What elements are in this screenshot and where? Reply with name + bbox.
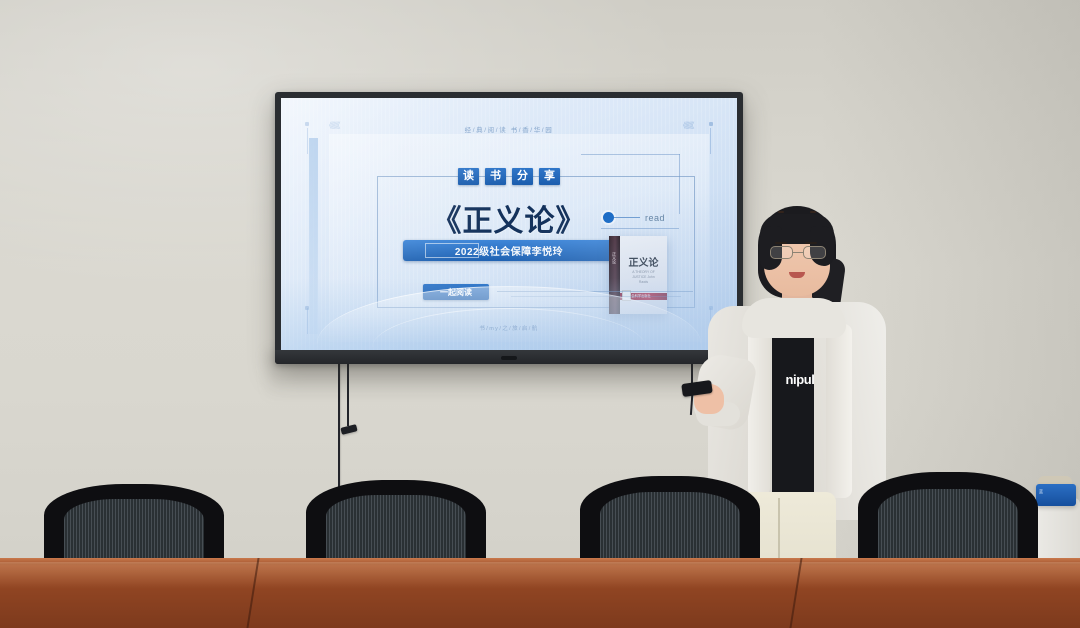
book-spine-text: 正义论: [612, 252, 617, 264]
hoodie-front-left-panel: [748, 326, 770, 496]
glasses-bridge: [793, 252, 803, 253]
slide-kicker-text: 经/典/阅/读 书/香/华/园: [281, 124, 737, 134]
read-underline: [601, 228, 679, 229]
table-surface-gloss: [0, 562, 1080, 588]
presentation-slide: 《《《《 《《《《 经/典/阅/读 书/香/华/园 读 书 分 享 《正义论》 …: [281, 98, 737, 350]
eyebrow-left: [775, 242, 787, 244]
hoodie-front-right-panel: [826, 324, 852, 498]
wall-mounted-display[interactable]: 《《《《 《《《《 经/典/阅/读 书/香/华/园 读 书 分 享 《正义论》 …: [275, 92, 743, 364]
slide-tag: 书: [485, 168, 506, 185]
read-connector-vertical: [679, 154, 680, 214]
glasses-lens-right: [803, 246, 826, 259]
read-marker: read: [603, 212, 665, 223]
read-line: [614, 217, 640, 218]
book-cover-title: 正义论: [620, 254, 667, 269]
slide-page-decoration: [281, 278, 737, 350]
read-dot-icon: [603, 212, 614, 223]
blue-box-label: 蓝: [1039, 489, 1043, 495]
meeting-room-scene: 《《《《 《《《《 经/典/阅/读 书/香/华/园 读 书 分 享 《正义论》 …: [0, 0, 1080, 628]
tshirt-graphic-text: nipul: [762, 372, 838, 387]
slide-subtitle-text: 2022级社会保障李悦玲: [455, 243, 563, 258]
tv-bottom-bezel: [275, 350, 743, 364]
read-connector-horizontal: [581, 154, 680, 155]
hoodie-hood: [742, 298, 846, 338]
slide-title: 《正义论》: [281, 196, 737, 240]
slide-tag: 分: [512, 168, 533, 185]
read-label: read: [645, 213, 665, 223]
slide-tag: 读: [458, 168, 479, 185]
conference-table: [0, 558, 1080, 628]
glasses-icon: [770, 246, 826, 259]
slide-tag: 享: [539, 168, 560, 185]
slide-footer-text: 书/my/之/旅/启/航: [281, 324, 737, 332]
glasses-lens-left: [770, 246, 793, 259]
eye-left: [778, 211, 784, 213]
display-screen: 《《《《 《《《《 经/典/阅/读 书/香/华/园 读 书 分 享 《正义论》 …: [281, 98, 737, 350]
eyebrow-right: [805, 242, 817, 244]
slide-subtitle-bar: 2022级社会保障李悦玲: [403, 240, 615, 261]
slide-tag-group: 读 书 分 享: [458, 168, 560, 185]
tv-ir-sensor-icon: [501, 356, 517, 360]
eye-right: [810, 211, 816, 213]
blue-box-item: 蓝: [1036, 484, 1076, 506]
power-cable-left: [347, 364, 349, 426]
